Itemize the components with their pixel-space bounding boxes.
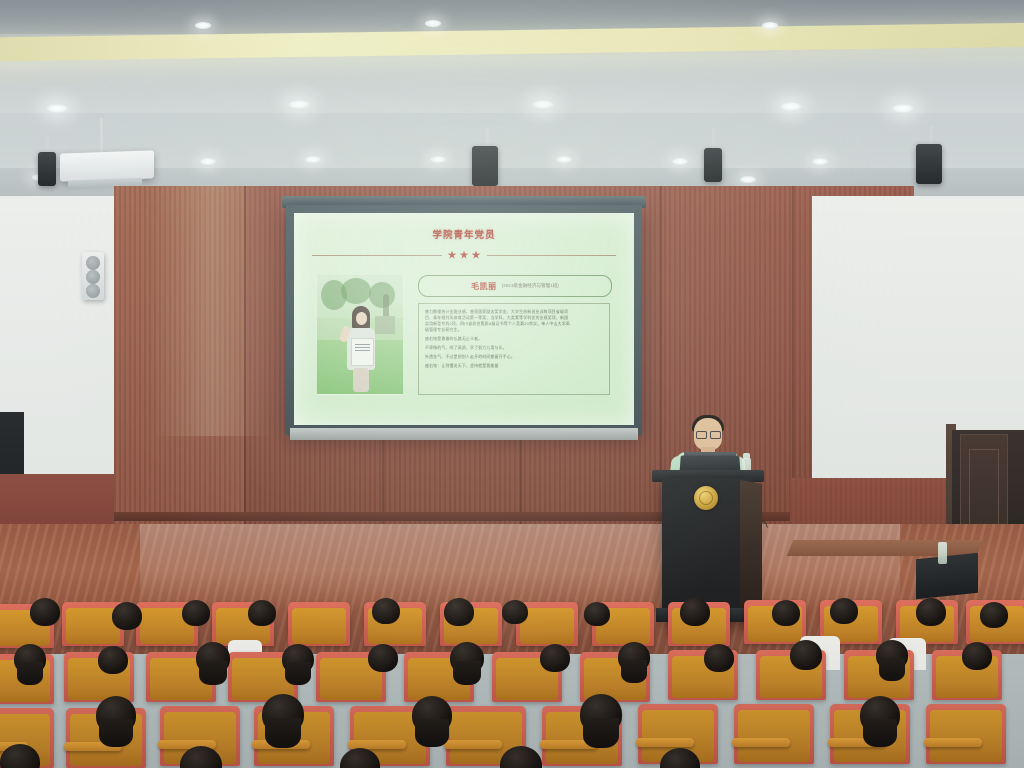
slide-divider <box>312 249 616 261</box>
audience-head <box>98 646 128 674</box>
bio-line: 不卑微的气、明了高质、学了努力儿用与乐。 <box>425 345 603 351</box>
hanging-speaker-icon <box>916 144 942 184</box>
audience-head <box>444 598 474 626</box>
presentation-slide: 学院青年党员 <box>294 213 634 425</box>
audience-head <box>580 694 622 734</box>
seat-armrest <box>924 738 982 747</box>
seat[interactable] <box>734 704 814 764</box>
star-icon <box>460 251 469 260</box>
wood-panel-seam <box>792 186 794 486</box>
stage-steps <box>787 540 983 556</box>
audience-head <box>14 644 46 674</box>
photo-certificate <box>351 338 374 366</box>
light-rod <box>930 126 933 146</box>
audience-head <box>450 642 484 674</box>
student-class: (2021级金融经济与管理1班) <box>502 283 559 289</box>
photo-face <box>356 312 367 325</box>
ceiling-spot-icon <box>46 104 68 113</box>
audience-head <box>680 598 710 626</box>
projector-mount <box>100 118 103 154</box>
wood-panel-seam <box>244 186 246 524</box>
student-name-badge: 毛凯丽 (2021级金融经济与管理1班) <box>418 275 612 297</box>
audience-head <box>540 644 570 672</box>
glasses-icon <box>696 431 720 437</box>
audience-head <box>980 602 1008 628</box>
star-icon <box>448 251 457 260</box>
audience-head <box>196 642 230 674</box>
wall-speaker-icon <box>82 252 104 300</box>
star-icon <box>472 251 481 260</box>
audience-head <box>790 640 822 670</box>
hanging-speaker-icon <box>472 146 498 186</box>
audience-head <box>112 602 142 630</box>
bio-line: 级管理专业研究生。 <box>425 327 603 333</box>
water-bottle-icon[interactable] <box>938 542 947 564</box>
podium-emblem-icon <box>694 486 718 510</box>
divider-line-left <box>312 255 442 256</box>
ceiling-spot-icon <box>780 102 802 111</box>
audience-head <box>412 696 452 734</box>
audience-seating <box>0 596 1024 768</box>
audience-head <box>96 696 136 734</box>
audience-head <box>368 644 398 672</box>
seat-armrest <box>636 738 694 747</box>
ceiling-spot-icon <box>762 22 778 29</box>
divider-line-right <box>487 255 617 256</box>
ceiling-spot-icon <box>425 20 441 27</box>
light-rod <box>486 128 489 148</box>
audience-head <box>182 600 210 626</box>
seat-armrest <box>444 740 502 749</box>
audience-head <box>372 598 400 624</box>
bio-line: 座右铭：让别懂关天下，坚持就是我能量 <box>425 363 603 369</box>
audience-head <box>282 644 314 674</box>
seat[interactable] <box>926 704 1006 764</box>
audience-head <box>30 598 60 626</box>
ceiling-spot-icon <box>305 156 321 163</box>
projector-icon <box>60 150 154 181</box>
wood-panel-seam <box>660 186 662 476</box>
photo-tree <box>369 282 395 308</box>
ceiling-spot-icon <box>532 100 554 109</box>
photo-tree <box>341 278 371 304</box>
audience-head <box>830 598 858 624</box>
audience-head <box>262 694 304 734</box>
student-bio-box: 曾力数理统计金融业绩，曾获国家励志奖学金、大学生创新创业训练项目省级项 目、青年… <box>418 303 610 395</box>
ceiling-spot-icon <box>812 158 828 165</box>
side-chair[interactable] <box>916 553 978 600</box>
star-group <box>442 251 487 260</box>
photo-student-figure <box>345 306 377 392</box>
light-rod <box>712 128 715 148</box>
hanging-spotlight-icon <box>38 152 56 186</box>
audience-head <box>502 600 528 624</box>
bio-line: 外透金气、不过是把别人走开的时间都留开手心。 <box>425 354 603 360</box>
ceiling-spot-icon <box>430 156 446 163</box>
audience-head <box>962 642 992 670</box>
student-photo <box>316 275 404 395</box>
audience-head <box>916 598 946 626</box>
ceiling-spot-icon <box>672 158 688 165</box>
audience-head <box>248 600 276 626</box>
audience-head <box>618 642 650 672</box>
audience-head <box>772 600 800 626</box>
hanging-spotlight-icon <box>704 148 722 182</box>
ceiling-spot-icon <box>288 100 310 109</box>
auditorium-scene: 学院青年党员 <box>0 0 1024 768</box>
audience-head <box>860 696 900 734</box>
seat[interactable] <box>288 602 350 646</box>
ceiling-spot-icon <box>195 22 211 29</box>
photo-statue-plinth <box>375 316 395 334</box>
seat-armrest <box>732 738 790 747</box>
wood-wall-sheen <box>152 186 272 436</box>
student-name: 毛凯丽 <box>471 281 497 292</box>
ceiling-spot-icon <box>200 158 216 165</box>
audience-head <box>876 640 908 670</box>
slide-title: 学院青年党员 <box>294 227 634 241</box>
bio-line: 座右铭是勇敢的长路无止义者。 <box>425 336 603 342</box>
audience-head <box>584 602 610 626</box>
photo-legs <box>353 368 369 392</box>
ceiling-spot-icon <box>892 104 914 113</box>
audience-head <box>704 644 734 672</box>
screen-bottom-bar <box>290 428 638 440</box>
ceiling-spot-icon <box>740 176 756 183</box>
ceiling-spot-icon <box>556 156 572 163</box>
photo-statue <box>383 294 389 316</box>
